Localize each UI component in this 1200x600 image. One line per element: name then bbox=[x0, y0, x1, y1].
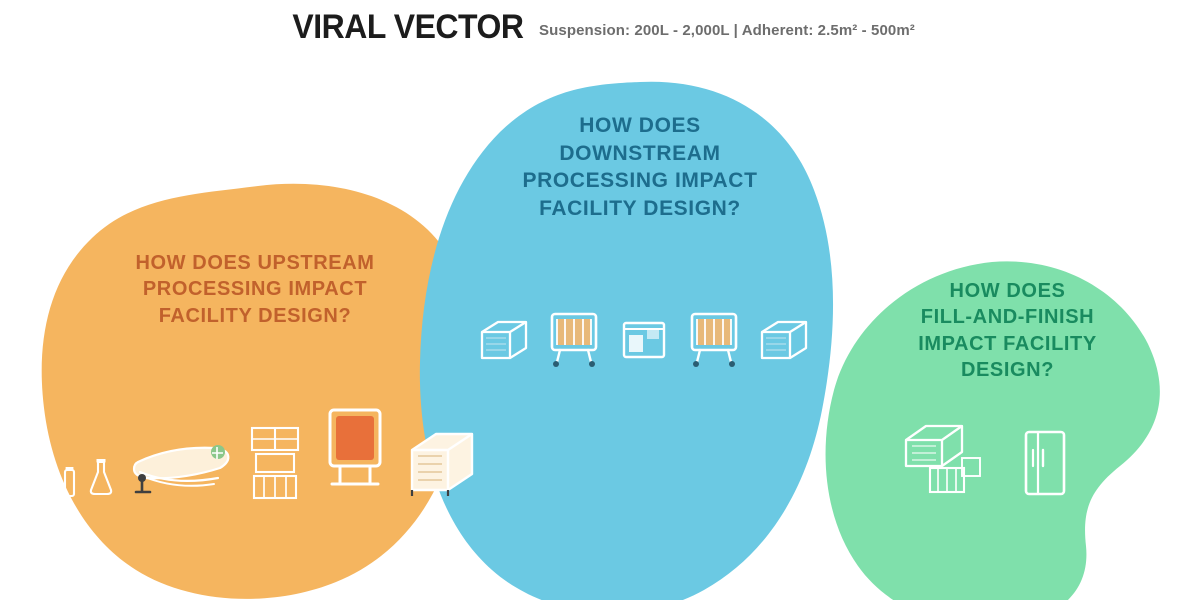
blob-stage: HOW DOES UPSTREAM PROCESSING IMPACT FACI… bbox=[0, 0, 1200, 600]
fillfinish-blob bbox=[826, 261, 1160, 600]
blob-shapes bbox=[0, 0, 1200, 600]
infographic-canvas: VIRAL VECTORSuspension: 200L - 2,000L | … bbox=[0, 0, 1200, 600]
downstream-blob bbox=[420, 82, 833, 600]
upstream-blob bbox=[42, 184, 470, 599]
